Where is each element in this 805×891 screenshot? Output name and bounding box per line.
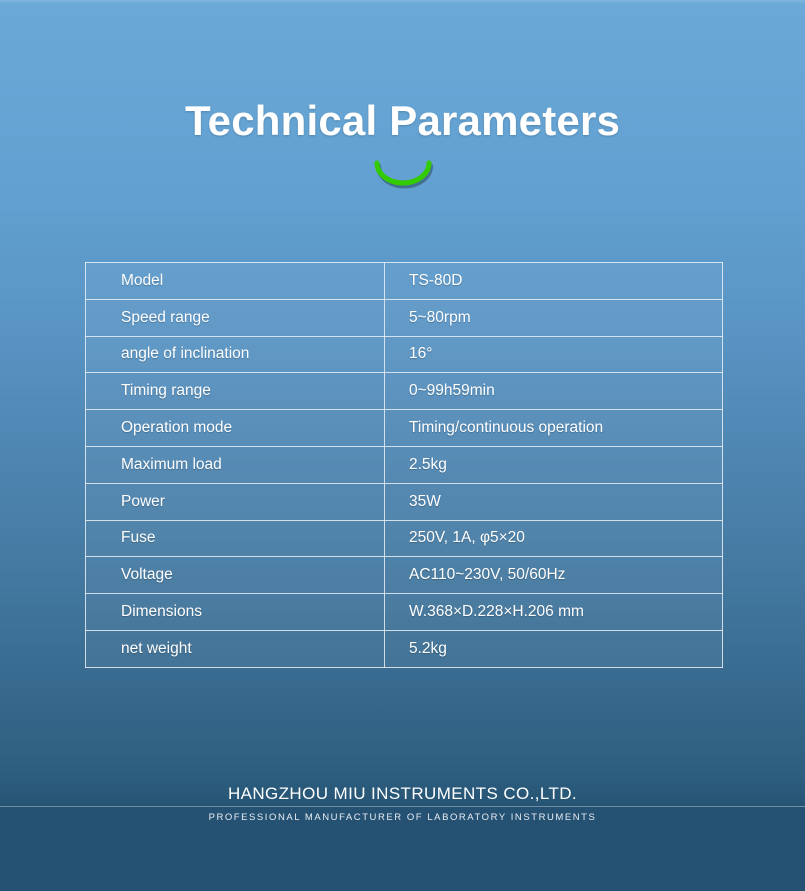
- row-value-cell: 2.5kg: [385, 446, 723, 483]
- table-row: Maximum load 2.5kg: [86, 446, 723, 483]
- green-smile-arc-icon: [372, 158, 434, 192]
- row-label-cell: Model: [86, 263, 385, 300]
- row-value-text: Timing/continuous operation: [385, 419, 722, 437]
- row-value-text: 16°: [385, 345, 722, 363]
- table-row: Voltage AC110~230V, 50/60Hz: [86, 557, 723, 594]
- row-value-text: AC110~230V, 50/60Hz: [385, 566, 722, 584]
- row-value-text: 0~99h59min: [385, 382, 722, 400]
- product-spec-slide: Technical Parameters Model TS-80D Speed …: [0, 0, 805, 891]
- row-value-cell: 5~80rpm: [385, 299, 723, 336]
- row-label-cell: Operation mode: [86, 410, 385, 447]
- row-value-text: 35W: [385, 493, 722, 511]
- table-row: Dimensions W.368×D.228×H.206 mm: [86, 594, 723, 631]
- row-label-text: Fuse: [86, 529, 384, 547]
- row-label-text: Speed range: [86, 309, 384, 327]
- row-label-cell: Fuse: [86, 520, 385, 557]
- row-value-cell: TS-80D: [385, 263, 723, 300]
- row-label-text: Timing range: [86, 382, 384, 400]
- row-label-text: angle of inclination: [86, 345, 384, 363]
- company-name: HANGZHOU MIU INSTRUMENTS CO.,LTD.: [0, 784, 805, 804]
- row-label-cell: angle of inclination: [86, 336, 385, 373]
- row-value-text: 2.5kg: [385, 456, 722, 474]
- row-value-cell: 250V, 1A, φ5×20: [385, 520, 723, 557]
- footer-divider: [0, 806, 805, 807]
- row-value-text: 250V, 1A, φ5×20: [385, 529, 722, 547]
- row-value-cell: AC110~230V, 50/60Hz: [385, 557, 723, 594]
- row-value-text: TS-80D: [385, 272, 722, 290]
- row-label-text: Power: [86, 493, 384, 511]
- table-row: angle of inclination 16°: [86, 336, 723, 373]
- table-row: Operation mode Timing/continuous operati…: [86, 410, 723, 447]
- top-edge-sheen: [0, 0, 805, 4]
- row-label-cell: Dimensions: [86, 594, 385, 631]
- table-row: Fuse 250V, 1A, φ5×20: [86, 520, 723, 557]
- row-label-cell: Power: [86, 483, 385, 520]
- row-value-cell: 16°: [385, 336, 723, 373]
- row-value-text: 5.2kg: [385, 640, 722, 658]
- row-value-text: 5~80rpm: [385, 309, 722, 327]
- row-label-text: net weight: [86, 640, 384, 658]
- table-row: net weight 5.2kg: [86, 630, 723, 667]
- row-label-text: Model: [86, 272, 384, 290]
- row-value-cell: W.368×D.228×H.206 mm: [385, 594, 723, 631]
- row-label-cell: Speed range: [86, 299, 385, 336]
- row-value-cell: 5.2kg: [385, 630, 723, 667]
- row-label-cell: Voltage: [86, 557, 385, 594]
- row-value-cell: Timing/continuous operation: [385, 410, 723, 447]
- company-tagline: PROFESSIONAL MANUFACTURER OF LABORATORY …: [0, 811, 805, 824]
- table-row: Timing range 0~99h59min: [86, 373, 723, 410]
- row-label-text: Voltage: [86, 566, 384, 584]
- row-label-cell: Maximum load: [86, 446, 385, 483]
- technical-parameters-table: Model TS-80D Speed range 5~80rpm angle o…: [85, 262, 723, 668]
- table-row: Speed range 5~80rpm: [86, 299, 723, 336]
- row-value-text: W.368×D.228×H.206 mm: [385, 603, 722, 621]
- row-value-cell: 0~99h59min: [385, 373, 723, 410]
- row-label-text: Maximum load: [86, 456, 384, 474]
- row-label-cell: Timing range: [86, 373, 385, 410]
- row-value-cell: 35W: [385, 483, 723, 520]
- row-label-text: Dimensions: [86, 603, 384, 621]
- page-title: Technical Parameters: [0, 96, 805, 146]
- row-label-text: Operation mode: [86, 419, 384, 437]
- table-row: Model TS-80D: [86, 263, 723, 300]
- table-row: Power 35W: [86, 483, 723, 520]
- table-body: Model TS-80D Speed range 5~80rpm angle o…: [86, 263, 723, 668]
- row-label-cell: net weight: [86, 630, 385, 667]
